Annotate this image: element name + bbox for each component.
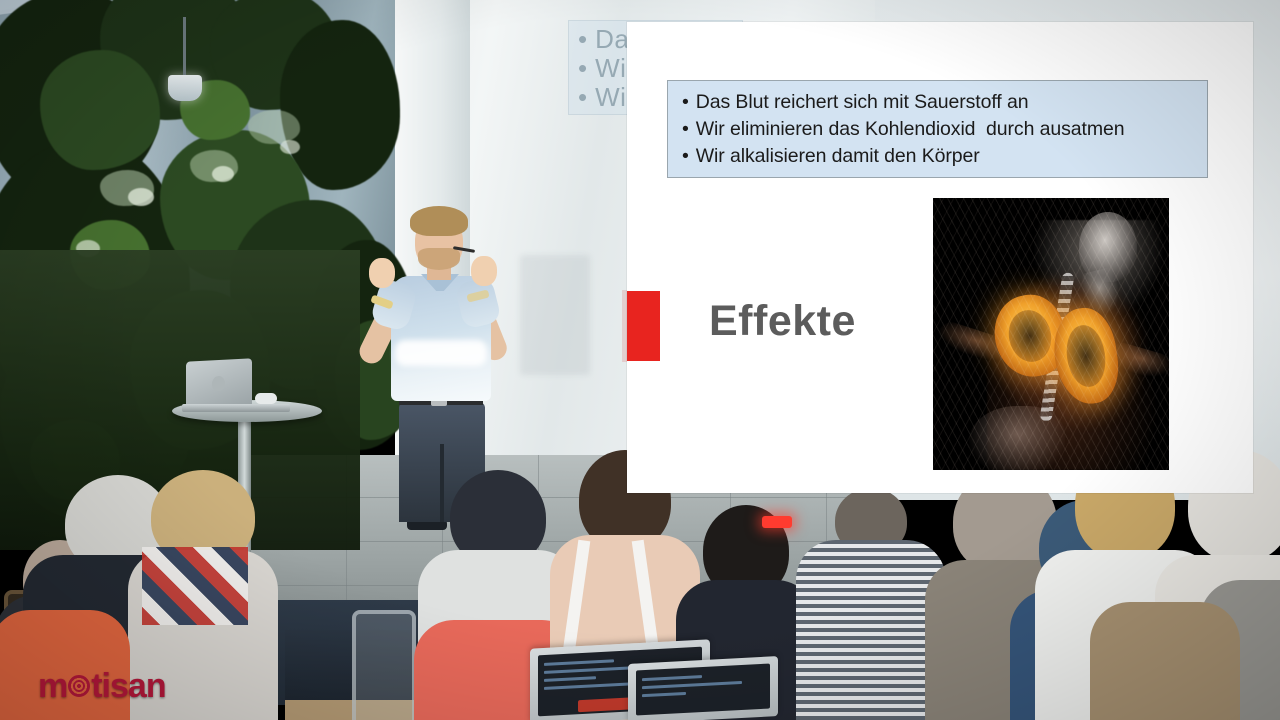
slide-bullet-3: Wir alkalisieren damit den Körper: [682, 143, 1193, 170]
slide-title: Effekte: [709, 297, 856, 346]
slide-bullet-box: Das Blut reichert sich mit Sauerstoff an…: [667, 80, 1208, 178]
recording-light: [762, 516, 792, 528]
screenshot-frame: • Das • Wir • Wir: [0, 0, 1280, 720]
anatomy-lungs-image: [933, 198, 1169, 470]
audience-laptop-2: [628, 656, 778, 720]
audience-member: [796, 488, 946, 720]
presenter-hair: [410, 206, 468, 236]
macbook-base: [182, 404, 290, 412]
logo-text-after: tisan: [91, 667, 165, 706]
presentation-slide: Das Blut reichert sich mit Sauerstoff an…: [627, 22, 1253, 493]
slide-bullet-1: Das Blut reichert sich mit Sauerstoff an: [682, 89, 1193, 116]
presenter-beard: [418, 248, 460, 270]
audience-member: [1090, 600, 1240, 720]
presenter-hand-right: [471, 256, 497, 286]
mouse-device: [255, 393, 277, 404]
logo-text-before: m: [38, 667, 67, 706]
red-accent-bar: [627, 291, 660, 361]
macbook-laptop: [186, 358, 252, 409]
chair: [352, 610, 416, 720]
hanging-lamp: [168, 75, 202, 101]
slide-bullet-2: Wir eliminieren das Kohlendioxid durch a…: [682, 116, 1193, 143]
anatomy-vessels-overlay: [933, 198, 1169, 470]
shirt-highlight: [395, 340, 487, 366]
laptop-screen: [636, 663, 770, 715]
spiral-target-icon: [68, 675, 90, 697]
motisan-watermark: m tisan: [38, 666, 188, 706]
presenter-hand-left: [369, 258, 395, 288]
